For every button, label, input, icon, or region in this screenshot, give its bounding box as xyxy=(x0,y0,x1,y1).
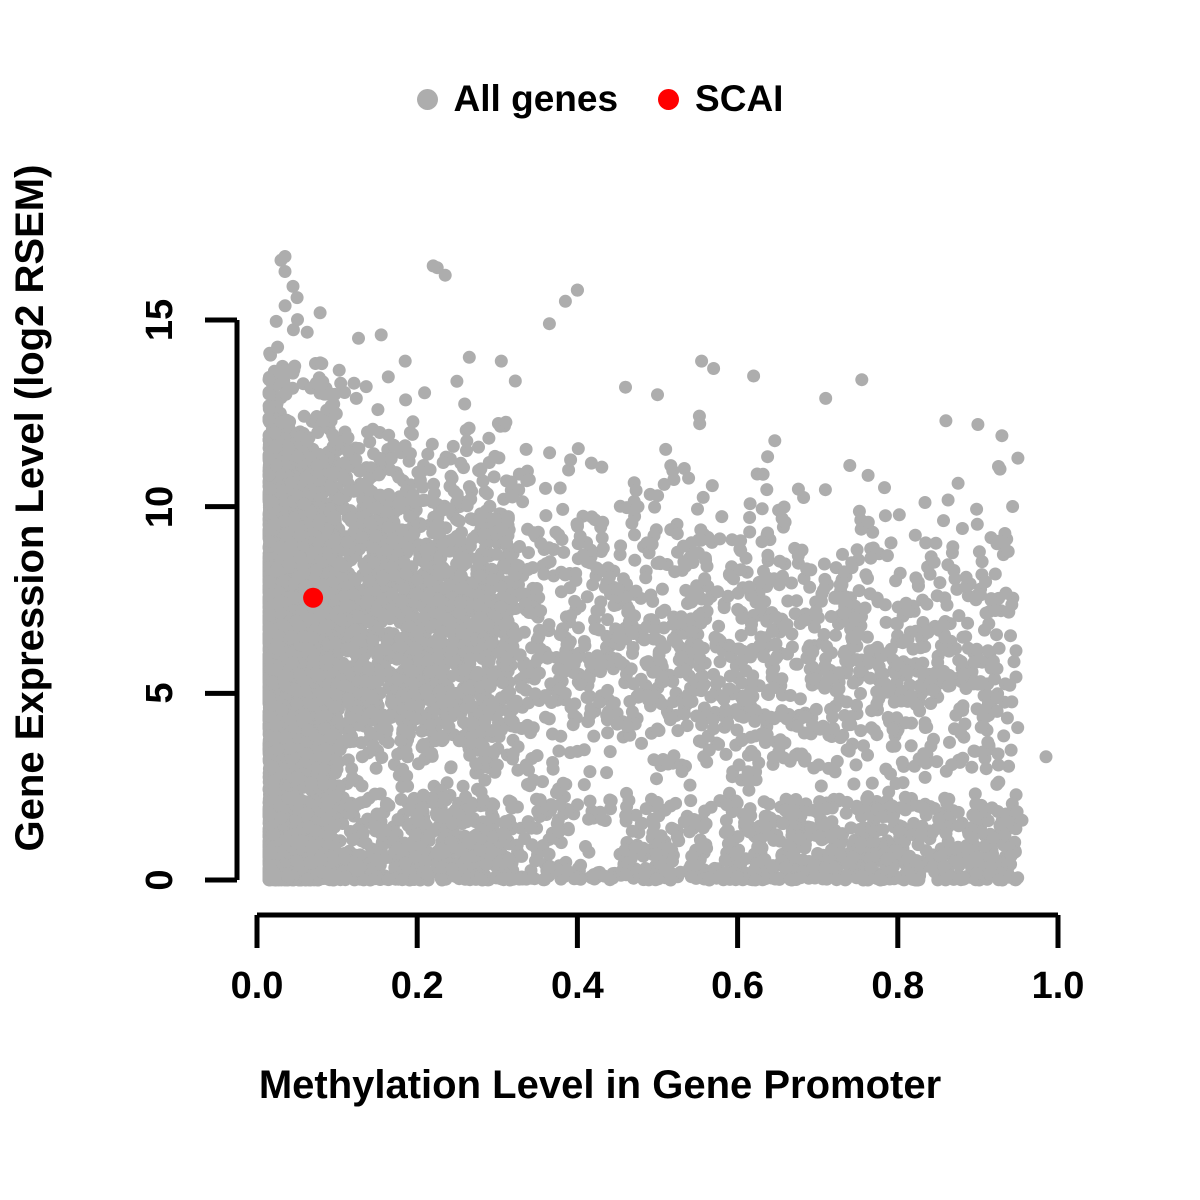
y-tick-label: 5 xyxy=(136,658,184,728)
x-tick-label: 0.6 xyxy=(711,965,764,1008)
y-tick-label: 0 xyxy=(136,845,184,915)
x-tick-label: 0.8 xyxy=(871,965,924,1008)
y-axis-title: Gene Expression Level (log2 RSEM) xyxy=(0,0,60,1108)
x-tick-label: 0.2 xyxy=(391,965,444,1008)
x-tick-label: 0.4 xyxy=(551,965,604,1008)
y-tick-label: 10 xyxy=(136,472,184,542)
x-tick-label: 0.0 xyxy=(231,965,284,1008)
x-axis-title: Methylation Level in Gene Promoter xyxy=(0,1063,1200,1108)
plot-canvas xyxy=(0,0,1200,1200)
y-tick-label: 15 xyxy=(136,285,184,355)
scai-data-point[interactable] xyxy=(303,588,323,608)
x-tick-label: 1.0 xyxy=(1032,965,1085,1008)
scai-point-layer xyxy=(303,588,323,608)
scatter-plot-figure: All genes SCAI Methylation Level in Gene… xyxy=(0,0,1200,1200)
